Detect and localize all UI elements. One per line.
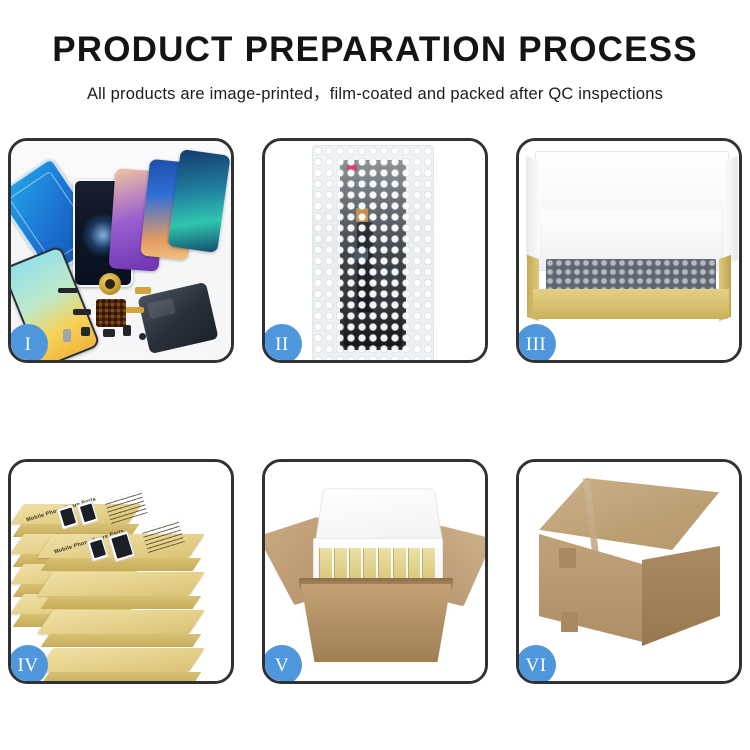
page-subtitle: All products are image-printed，film-coat… bbox=[0, 69, 750, 104]
box-spec-lines-back bbox=[104, 490, 147, 524]
part-strip bbox=[58, 288, 78, 293]
stacked-box-front-2 bbox=[45, 572, 197, 596]
lcd-tape-tab-left bbox=[349, 326, 361, 340]
step-badge-6: VI bbox=[519, 645, 556, 681]
step-badge-1: I bbox=[11, 324, 48, 360]
lcd-tape-tab-top bbox=[356, 208, 368, 222]
header: PRODUCT PREPARATION PROCESS All products… bbox=[0, 0, 750, 104]
step-panel-2: II bbox=[262, 138, 488, 363]
speaker-coil-part bbox=[99, 273, 121, 295]
step-panel-1: I bbox=[8, 138, 234, 363]
step-panel-5: V bbox=[262, 459, 488, 684]
bubble-bag bbox=[312, 145, 434, 360]
stacked-box-front-4 bbox=[45, 648, 197, 672]
steps-grid: I II bbox=[8, 138, 742, 684]
step-badge-2: II bbox=[265, 324, 302, 360]
carton-tab-lower bbox=[561, 612, 578, 632]
step-badge-4: IV bbox=[11, 645, 48, 681]
lcd-label-sticker bbox=[347, 165, 357, 171]
lcd-bottom-board bbox=[344, 312, 402, 346]
step-2-image: II bbox=[265, 141, 485, 360]
sealed-carton-side bbox=[642, 546, 720, 646]
lcd-tape-tab-right bbox=[385, 326, 397, 340]
step-panel-3: III bbox=[516, 138, 742, 363]
page-title: PRODUCT PREPARATION PROCESS bbox=[0, 0, 750, 69]
stacked-box-front-3 bbox=[45, 610, 197, 634]
tray-front-panel bbox=[533, 289, 729, 319]
part-screw bbox=[139, 333, 146, 340]
carton-tab-upper bbox=[559, 548, 576, 568]
part-camera bbox=[123, 325, 131, 336]
part-flex-cable bbox=[73, 309, 91, 315]
carton-body bbox=[301, 584, 451, 662]
step-badge-5: V bbox=[265, 645, 302, 681]
infographic-page: PRODUCT PREPARATION PROCESS All products… bbox=[0, 0, 750, 750]
part-gold-flex bbox=[135, 287, 151, 294]
part-button bbox=[81, 327, 90, 336]
step-panel-4: Mobile Phone Spare Parts Mobile Phone bbox=[8, 459, 234, 684]
sealed-carton-top bbox=[539, 478, 719, 550]
step-6-image: VI bbox=[519, 462, 739, 681]
sealed-carton-front bbox=[539, 534, 643, 642]
step-badge-3: III bbox=[519, 324, 556, 360]
part-gold-cable bbox=[126, 307, 144, 313]
step-4-image: Mobile Phone Spare Parts Mobile Phone bbox=[11, 462, 231, 681]
bubble-wrapped-contents bbox=[546, 259, 716, 293]
foam-sheet bbox=[541, 211, 721, 263]
step-1-image: I bbox=[11, 141, 231, 360]
lcd-connector bbox=[354, 248, 368, 260]
part-bracket bbox=[103, 329, 115, 337]
step-3-image: III bbox=[519, 141, 739, 360]
lcd-flex-cable bbox=[357, 222, 373, 318]
part-connector-grid bbox=[96, 299, 126, 327]
step-panel-6: VI bbox=[516, 459, 742, 684]
part-sim-tray bbox=[63, 329, 71, 342]
step-5-image: V bbox=[265, 462, 485, 681]
lcd-screen bbox=[340, 160, 406, 350]
